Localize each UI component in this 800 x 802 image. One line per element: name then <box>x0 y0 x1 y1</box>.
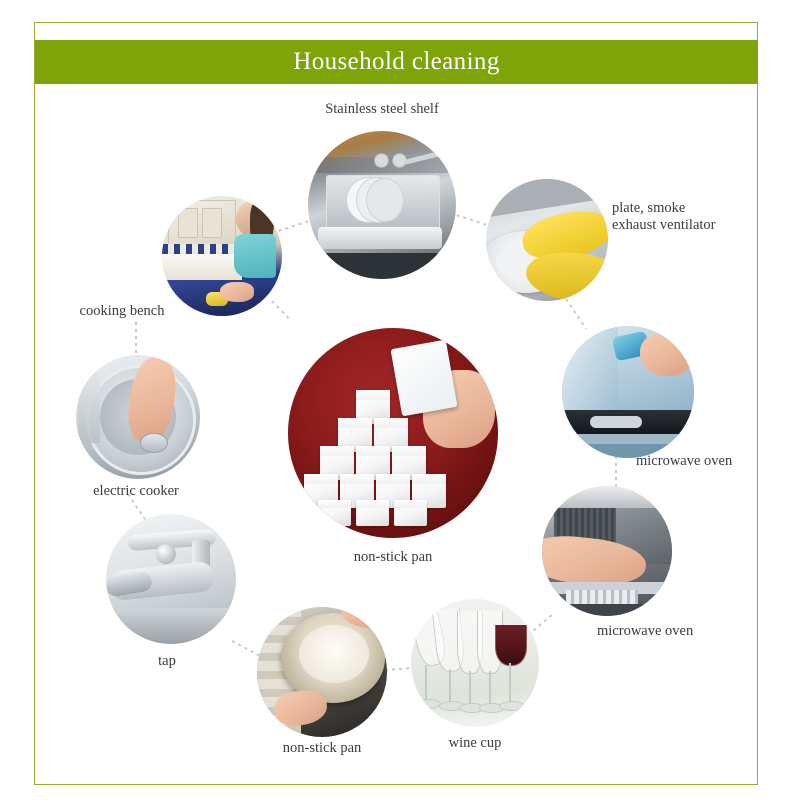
node-stainless-steel-shelf[interactable] <box>308 131 456 279</box>
chrome-faucet-photo-icon <box>106 514 236 644</box>
connector-line <box>135 322 137 354</box>
hood-control-panel-icon <box>590 416 642 428</box>
label-microwave-oven-lower: microwave oven <box>597 623 757 640</box>
label-plate-smoke-exhaust-ventilator: plate, smoke exhaust ventilator <box>612 200 782 234</box>
microwave-interior-arm-photo-icon <box>542 486 672 616</box>
node-microwave-oven-lower[interactable] <box>542 486 672 616</box>
dish-rack-photo-icon <box>308 131 456 279</box>
faucet-knob-icon <box>374 153 389 168</box>
hand-cleaning-cooker-pot-photo-icon <box>76 355 200 479</box>
hand-icon <box>220 282 254 302</box>
hand-icon <box>640 332 692 376</box>
node-cooking-bench[interactable] <box>162 196 282 316</box>
hands-holding-pan-photo-icon <box>257 607 387 737</box>
range-hood-sponge-photo-icon <box>562 326 694 458</box>
woman-wiping-counter-photo-icon <box>162 196 282 316</box>
center-label: non-stick pan <box>288 549 498 566</box>
wine-glasses-photo-icon <box>411 599 539 727</box>
page-title: Household cleaning <box>293 48 499 76</box>
infographic-canvas: Household cleaning <box>0 0 800 802</box>
center-node-non-stick-pan[interactable] <box>288 328 498 538</box>
teal-shirt-icon <box>234 234 276 278</box>
label-tap: tap <box>121 653 213 670</box>
node-microwave-oven-upper[interactable] <box>562 326 694 458</box>
label-electric-cooker: electric cooker <box>48 483 224 500</box>
faucet-handle-icon <box>156 544 176 564</box>
header-bar: Household cleaning <box>35 40 758 84</box>
node-non-stick-pan[interactable] <box>257 607 387 737</box>
label-microwave-oven-upper: microwave oven <box>636 453 796 470</box>
node-tap[interactable] <box>106 514 236 644</box>
label-cooking-bench: cooking bench <box>40 303 204 320</box>
label-stainless-steel-shelf: Stainless steel shelf <box>282 101 482 118</box>
label-non-stick-pan: non-stick pan <box>250 740 394 757</box>
microwave-control-panel-icon <box>566 590 638 604</box>
gloved-hands-washing-plate-photo-icon <box>486 179 608 301</box>
melamine-sponge-stack-icon <box>288 328 498 538</box>
node-plate-smoke-exhaust-ventilator[interactable] <box>486 179 608 301</box>
connector-line <box>615 456 617 488</box>
label-wine-cup: wine cup <box>411 735 539 752</box>
sponge-in-hand-icon <box>391 340 458 417</box>
node-wine-cup[interactable] <box>411 599 539 727</box>
node-electric-cooker[interactable] <box>76 355 200 479</box>
